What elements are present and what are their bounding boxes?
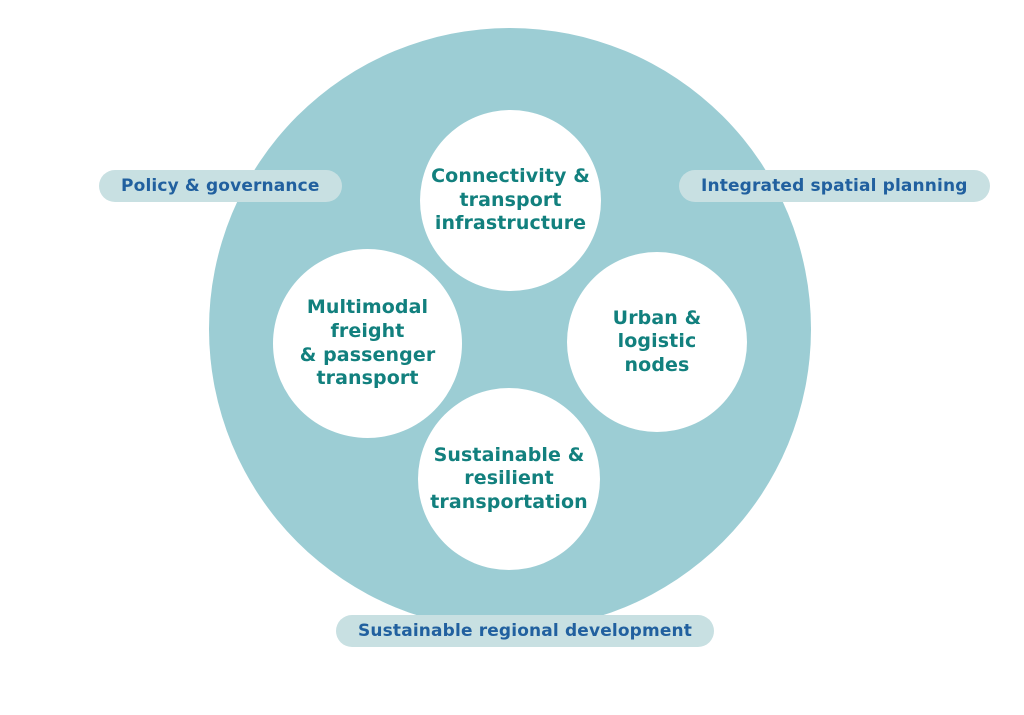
core-circle-urban-nodes-label: Urban & logistic nodes [603, 307, 712, 378]
core-circle-connectivity[interactable]: Connectivity & transport infrastructure [420, 110, 601, 291]
outer-label-policy-governance[interactable]: Policy & governance [99, 170, 342, 202]
outer-label-integrated-spatial-planning-text: Integrated spatial planning [701, 176, 968, 196]
core-circle-sustainable-transport[interactable]: Sustainable & resilient transportation [418, 388, 600, 570]
core-circle-multimodal[interactable]: Multimodal freight & passenger transport [273, 249, 462, 438]
outer-label-sustainable-regional-development[interactable]: Sustainable regional development [336, 615, 714, 647]
outer-label-integrated-spatial-planning[interactable]: Integrated spatial planning [679, 170, 990, 202]
diagram-canvas: Connectivity & transport infrastructure … [0, 0, 1024, 715]
core-circle-sustainable-transport-label: Sustainable & resilient transportation [420, 444, 598, 515]
core-circle-connectivity-label: Connectivity & transport infrastructure [421, 165, 600, 236]
outer-label-policy-governance-text: Policy & governance [121, 176, 320, 196]
outer-label-sustainable-regional-development-text: Sustainable regional development [358, 621, 692, 641]
core-circle-urban-nodes[interactable]: Urban & logistic nodes [567, 252, 747, 432]
core-circle-multimodal-label: Multimodal freight & passenger transport [290, 296, 446, 390]
